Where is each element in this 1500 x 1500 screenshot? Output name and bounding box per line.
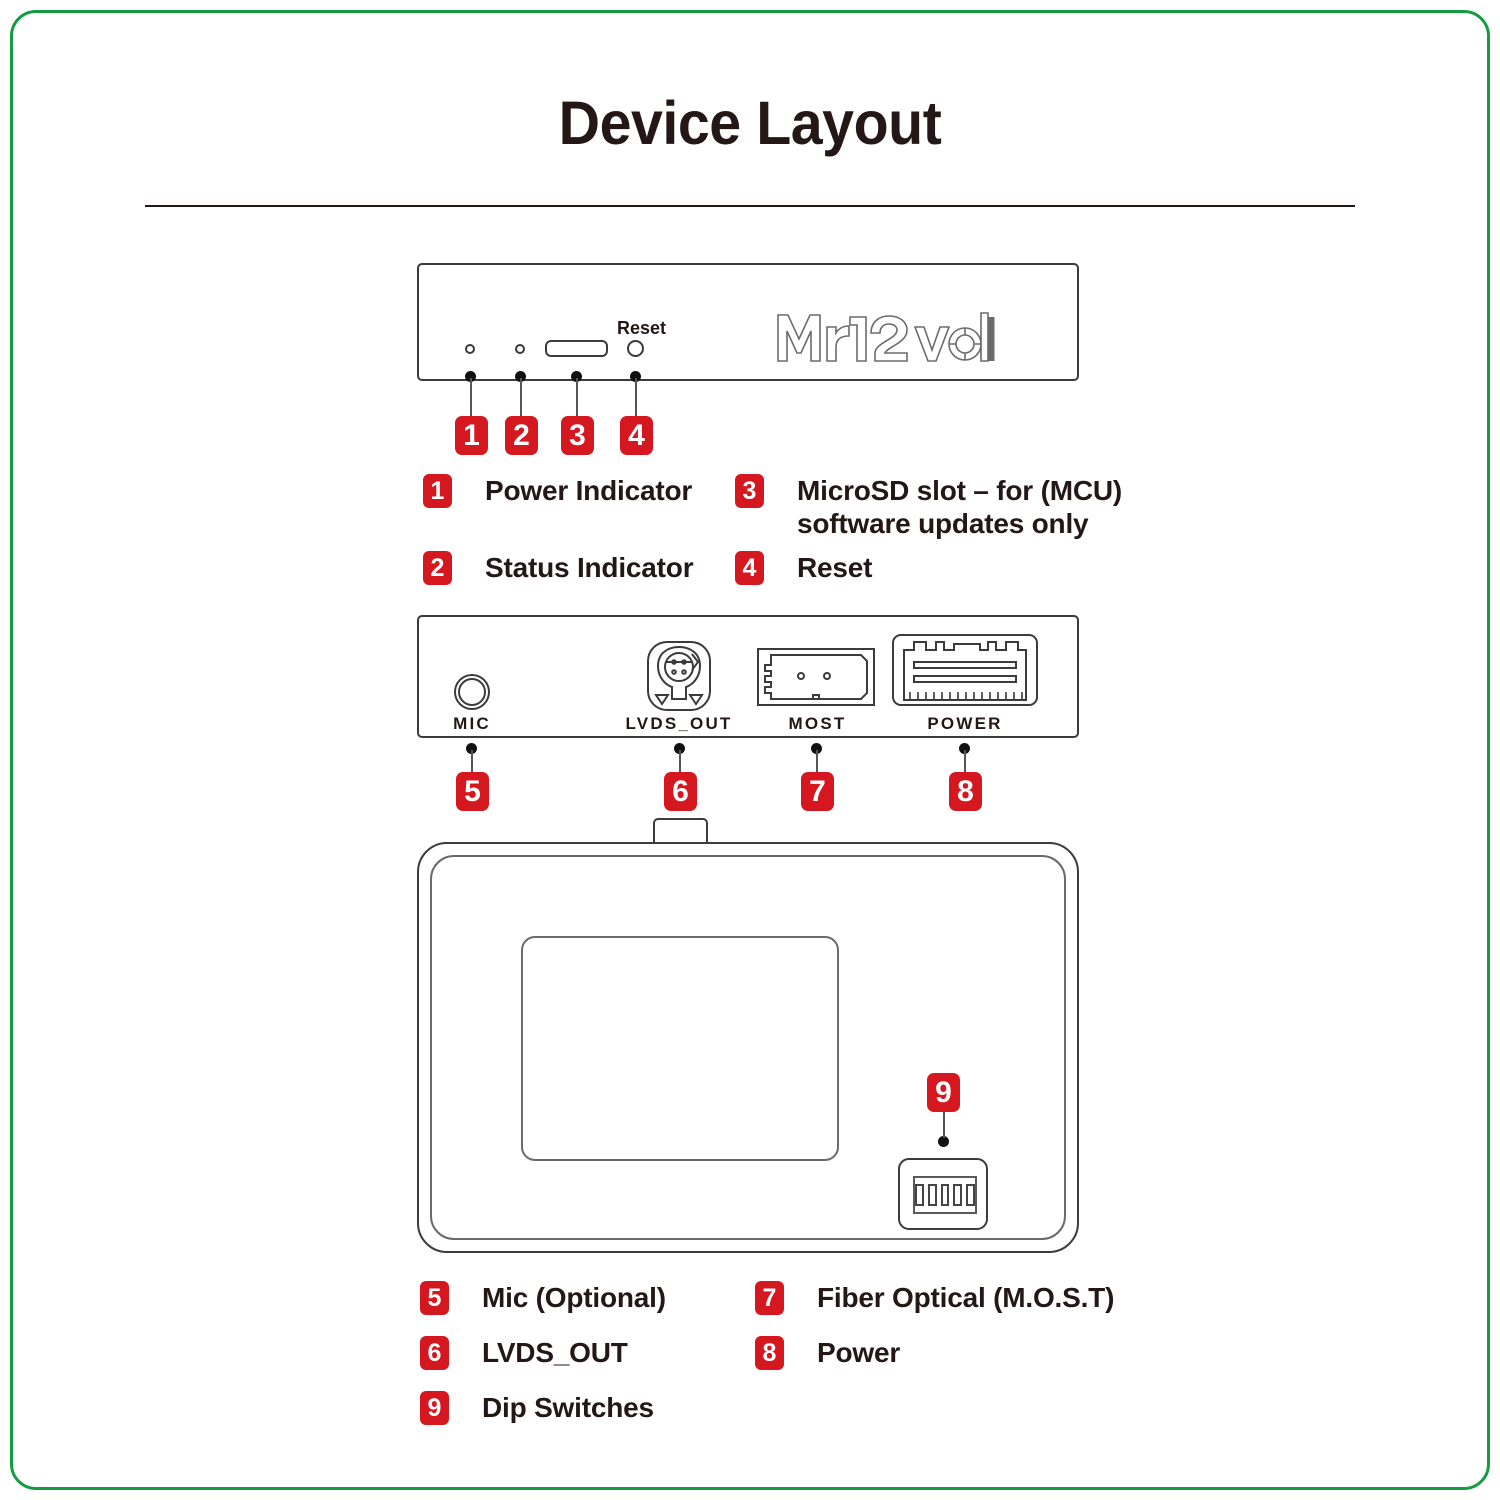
page-border	[10, 10, 1490, 1490]
callout-leader-line	[635, 378, 637, 416]
legend-badge-2[interactable]: 2	[423, 551, 452, 585]
callout-leader-line	[816, 750, 818, 774]
legend-label-9: Dip Switches	[482, 1391, 654, 1424]
port-label-most: MOST	[770, 714, 865, 734]
legend-badge-8[interactable]: 8	[755, 1336, 784, 1370]
callout-badge-3[interactable]: 3	[561, 416, 594, 455]
dip-switch-toggle[interactable]	[915, 1184, 924, 1206]
dip-switch-toggle[interactable]	[941, 1184, 950, 1206]
fiber-optic-port-icon	[757, 648, 875, 711]
callout-badge-6[interactable]: 6	[664, 772, 697, 811]
audio-jack-icon	[452, 672, 492, 717]
legend-item-2: 2 Status Indicator	[423, 551, 693, 585]
legend-item-5: 5 Mic (Optional)	[420, 1281, 666, 1315]
page-title: Device Layout	[45, 88, 1455, 158]
dip-switch-toggle[interactable]	[928, 1184, 937, 1206]
legend-item-4: 4 Reset	[735, 551, 872, 585]
dip-switch-housing[interactable]	[898, 1158, 988, 1230]
callout-badge-1[interactable]: 1	[455, 416, 488, 455]
callout-badge-7[interactable]: 7	[801, 772, 834, 811]
legend-label-7: Fiber Optical (M.O.S.T)	[817, 1281, 1114, 1314]
bottom-label-area	[521, 936, 839, 1161]
dip-switch-toggle[interactable]	[966, 1184, 975, 1206]
power-indicator-led	[465, 344, 475, 354]
legend-badge-5[interactable]: 5	[420, 1281, 449, 1315]
legend-item-7: 7 Fiber Optical (M.O.S.T)	[755, 1281, 1114, 1315]
legend-label-4: Reset	[797, 551, 872, 584]
legend-badge-6[interactable]: 6	[420, 1336, 449, 1370]
device-layout-page: Device Layout Reset	[0, 0, 1500, 1500]
dip-switch-window[interactable]	[913, 1176, 977, 1214]
title-divider	[145, 205, 1355, 207]
callout-leader-line	[576, 378, 578, 416]
legend-item-9: 9 Dip Switches	[420, 1391, 654, 1425]
brand-logo	[775, 305, 995, 367]
callout-badge-9[interactable]: 9	[927, 1073, 960, 1112]
callout-badge-4[interactable]: 4	[620, 416, 653, 455]
legend-badge-4[interactable]: 4	[735, 551, 764, 585]
legend-label-2: Status Indicator	[485, 551, 693, 584]
dip-switch-toggle[interactable]	[953, 1184, 962, 1206]
callout-leader-line	[679, 750, 681, 774]
legend-badge-3[interactable]: 3	[735, 474, 764, 508]
legend-label-8: Power	[817, 1336, 900, 1369]
legend-item-3: 3 MicroSD slot – for (MCU) software upda…	[735, 474, 1122, 540]
callout-leader-line	[964, 750, 966, 774]
legend-item-6: 6 LVDS_OUT	[420, 1336, 628, 1370]
legend-badge-7[interactable]: 7	[755, 1281, 784, 1315]
legend-label-3: MicroSD slot – for (MCU) software update…	[797, 474, 1122, 540]
port-label-lvds-out: LVDS_OUT	[613, 714, 745, 734]
port-label-mic: MIC	[432, 714, 512, 734]
reset-hole	[627, 340, 644, 357]
legend-item-8: 8 Power	[755, 1336, 900, 1370]
lvds-connector-icon	[646, 640, 712, 717]
callout-leader-line	[471, 750, 473, 774]
callout-leader-line	[520, 378, 522, 416]
legend-badge-9[interactable]: 9	[420, 1391, 449, 1425]
callout-leader-line	[470, 378, 472, 416]
callout-badge-2[interactable]: 2	[505, 416, 538, 455]
legend-label-1: Power Indicator	[485, 474, 692, 507]
microsd-slot	[545, 340, 608, 357]
legend-badge-1[interactable]: 1	[423, 474, 452, 508]
legend-label-5: Mic (Optional)	[482, 1281, 666, 1314]
bottom-view-tab	[653, 818, 708, 844]
reset-hole-label: Reset	[617, 318, 666, 339]
callout-badge-5[interactable]: 5	[456, 772, 489, 811]
callout-leader-line	[943, 1108, 945, 1138]
legend-label-6: LVDS_OUT	[482, 1336, 628, 1369]
legend-item-1: 1 Power Indicator	[423, 474, 692, 508]
status-indicator-led	[515, 344, 525, 354]
power-connector-icon	[892, 634, 1038, 711]
port-label-power: POWER	[915, 714, 1015, 734]
callout-badge-8[interactable]: 8	[949, 772, 982, 811]
